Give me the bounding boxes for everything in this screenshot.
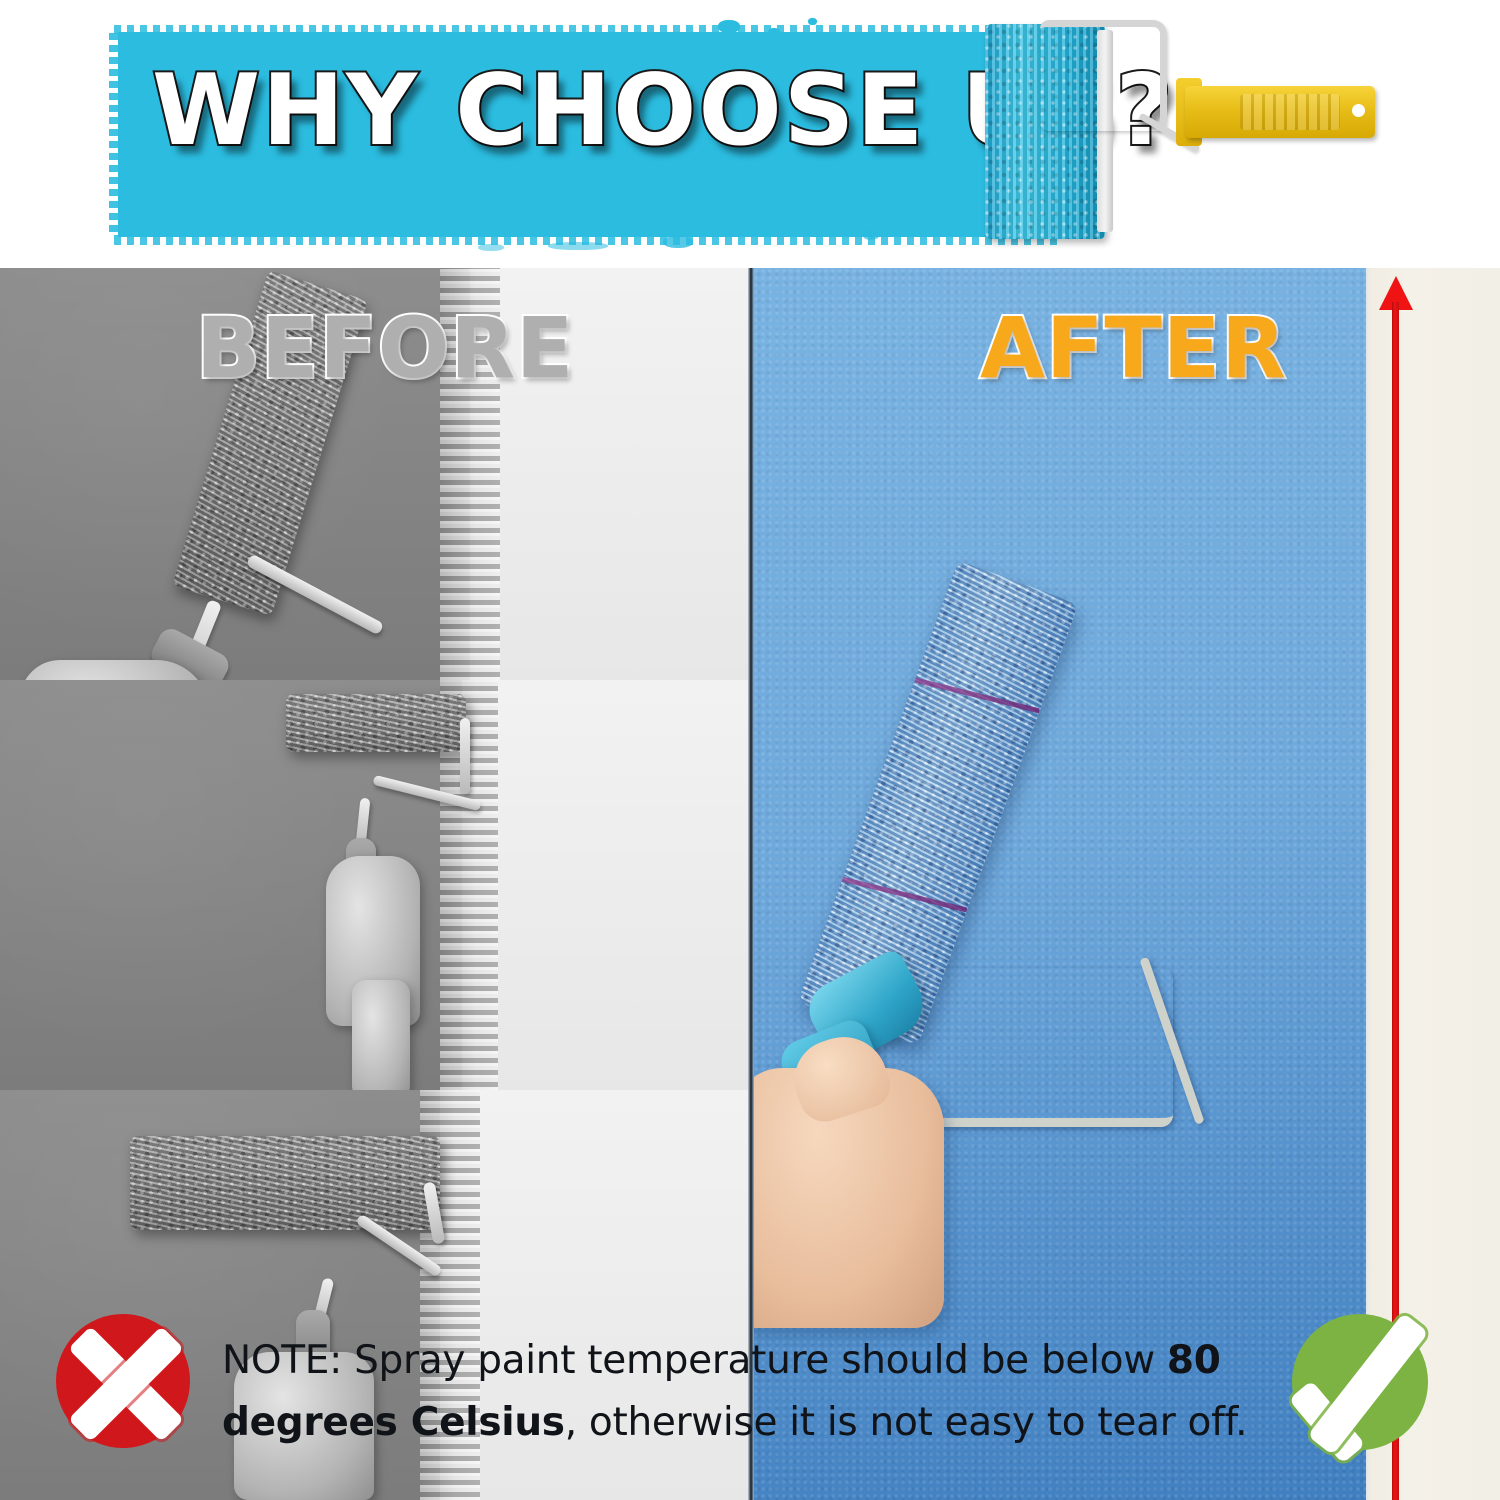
paint-splatter-icon bbox=[718, 20, 740, 33]
paint-splatter-icon bbox=[768, 28, 780, 37]
paint-splatter-icon bbox=[663, 236, 693, 248]
after-label: AFTER bbox=[980, 306, 1287, 390]
roller-sleeve-icon bbox=[286, 694, 466, 752]
paint-roller-frame-icon bbox=[1040, 20, 1167, 131]
before-label: BEFORE bbox=[196, 306, 574, 390]
page-title: WHY CHOOSE US? bbox=[152, 62, 1032, 160]
before-after-comparison: BEFORE AFTER bbox=[0, 268, 1500, 1500]
roller-handle-hole-icon bbox=[1352, 104, 1365, 117]
paint-stroke-banner: WHY CHOOSE US? bbox=[118, 18, 1078, 248]
roller-handle-grip-icon bbox=[1240, 94, 1340, 130]
roller-stripe-icon bbox=[914, 677, 1039, 713]
paint-splatter-icon bbox=[478, 244, 504, 251]
cross-badge bbox=[42, 1300, 204, 1462]
paint-splatter-icon bbox=[548, 242, 608, 250]
forearm-icon bbox=[352, 980, 410, 1090]
roller-sleeve-icon bbox=[130, 1136, 440, 1230]
note-suffix: , otherwise it is not easy to tear off. bbox=[565, 1400, 1248, 1445]
before-photo-2 bbox=[0, 680, 752, 1090]
infographic-page: WHY CHOOSE US? bbox=[0, 0, 1500, 1500]
note-text: NOTE: Spray paint temperature should be … bbox=[222, 1330, 1292, 1456]
roller-stripe-icon bbox=[842, 877, 967, 913]
note-prefix: NOTE: Spray paint temperature should be … bbox=[222, 1338, 1167, 1383]
paint-splatter-icon bbox=[808, 18, 817, 25]
header-banner: WHY CHOOSE US? bbox=[0, 0, 1500, 268]
wall-painted bbox=[498, 680, 752, 1090]
roller-frame-icon bbox=[460, 718, 470, 794]
check-badge bbox=[1286, 1296, 1466, 1466]
after-column bbox=[754, 268, 1366, 1500]
paint-splatter-icon bbox=[863, 230, 879, 240]
